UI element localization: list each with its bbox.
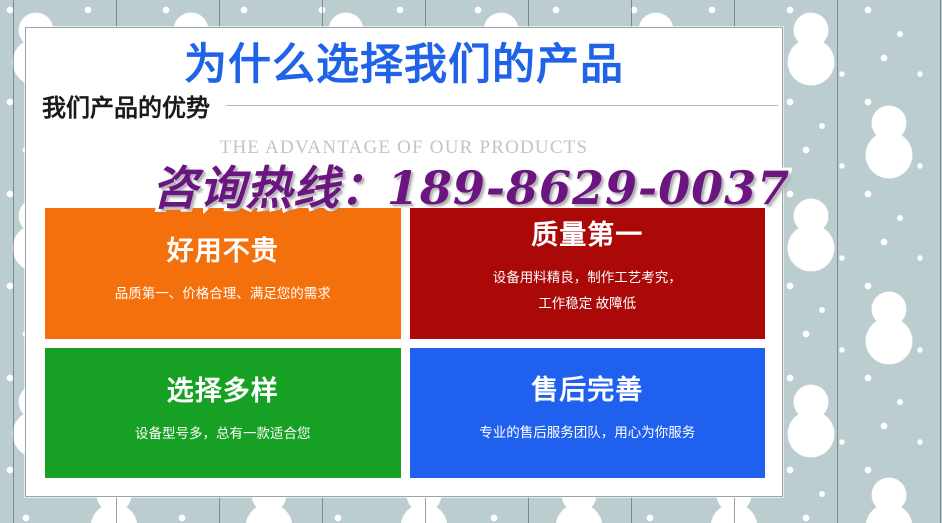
advantage-description-line1: 设备型号多，总有一款适合您 xyxy=(135,426,311,441)
advantage-title: 选择多样 xyxy=(167,375,279,409)
advert-card: 为什么选择我们的产品 我们产品的优势 THE ADVANTAGE OF OUR … xyxy=(25,27,783,497)
advantage-description-line1: 品质第一、价格合理、满足您的需求 xyxy=(115,286,331,301)
advantage-title: 质量第一 xyxy=(531,219,643,253)
advantage-grid: 好用不贵 品质第一、价格合理、满足您的需求 质量第一 设备用料精良，制作工艺考究… xyxy=(45,208,765,478)
header-block: 为什么选择我们的产品 xyxy=(26,28,782,91)
advantage-description-line1: 设备用料精良，制作工艺考究， xyxy=(493,270,682,285)
subtitle-chinese: 我们产品的优势 xyxy=(26,93,226,123)
subtitle-english: THE ADVANTAGE OF OUR PRODUCTS xyxy=(26,137,782,159)
subtitle-divider-row: 我们产品的优势 xyxy=(26,93,782,133)
advantage-card-varied-choice: 选择多样 设备型号多，总有一款适合您 xyxy=(45,348,401,479)
advantage-description: 品质第一、价格合理、满足您的需求 xyxy=(115,281,331,307)
advantage-description: 设备型号多，总有一款适合您 xyxy=(135,421,311,447)
advantage-card-after-sales: 售后完善 专业的售后服务团队，用心为你服务 xyxy=(410,348,766,479)
advantage-description-line2: 工作稳定 故障低 xyxy=(493,291,682,317)
advantage-card-good-value: 好用不贵 品质第一、价格合理、满足您的需求 xyxy=(45,208,401,339)
advertisement-banner: 为什么选择我们的产品 我们产品的优势 THE ADVANTAGE OF OUR … xyxy=(0,0,942,523)
advantage-card-quality-first: 质量第一 设备用料精良，制作工艺考究， 工作稳定 故障低 xyxy=(410,208,766,339)
page-title: 为什么选择我们的产品 xyxy=(26,39,782,91)
advantage-description: 专业的售后服务团队，用心为你服务 xyxy=(479,420,695,446)
advantage-description-line1: 专业的售后服务团队，用心为你服务 xyxy=(479,425,695,440)
advantage-title: 售后完善 xyxy=(531,374,643,408)
advantage-description: 设备用料精良，制作工艺考究， 工作稳定 故障低 xyxy=(493,265,682,317)
advantage-title: 好用不贵 xyxy=(167,235,279,269)
